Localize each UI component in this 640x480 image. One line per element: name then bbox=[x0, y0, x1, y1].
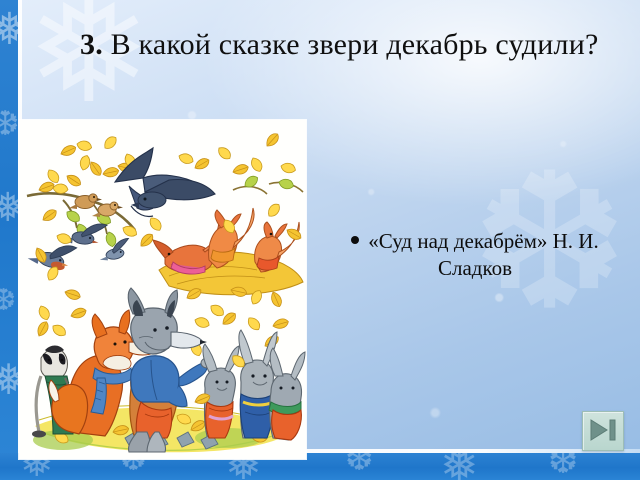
snowflake-icon: ❅ bbox=[0, 188, 18, 228]
left-border-band: ❅ ❆ ❅ ❆ ❅ bbox=[0, 0, 18, 480]
snowflake-icon: ❅ bbox=[0, 8, 18, 52]
skip-forward-icon bbox=[583, 412, 621, 448]
question-title: 3. В какой сказке звери декабрь судили? bbox=[80, 27, 620, 62]
question-number: 3. bbox=[80, 28, 103, 61]
snowflake-icon: ❆ bbox=[345, 453, 374, 477]
answer-label: «Суд над декабрём» Н. И. Сладков bbox=[368, 229, 598, 280]
snowflake-icon: ❆ bbox=[0, 108, 18, 142]
bullet-point-icon bbox=[351, 236, 359, 244]
snowflake-icon: ❆ bbox=[548, 453, 578, 479]
snowflake-icon: ❅ bbox=[0, 360, 18, 402]
answer-item: «Суд над декабрём» Н. И. Сладков bbox=[340, 228, 610, 282]
slide-canvas: ❅ ❆ ❅ ❆ ❅ ❆ ❅ ❅ ❆ ❅ ❆ ❅ ❆ 3. В какой ска… bbox=[0, 0, 640, 480]
illustration-image bbox=[19, 120, 306, 459]
question-text: В какой сказке звери декабрь судили? bbox=[103, 28, 599, 61]
next-slide-button[interactable] bbox=[582, 411, 624, 451]
snowflake-icon: ❆ bbox=[0, 286, 16, 316]
snowflake-icon: ❅ bbox=[440, 453, 479, 480]
snowflake-watermark-icon: ❅ bbox=[26, 0, 152, 126]
answer-block: «Суд над декабрём» Н. И. Сладков bbox=[340, 228, 610, 282]
illustration-frame bbox=[19, 120, 306, 459]
